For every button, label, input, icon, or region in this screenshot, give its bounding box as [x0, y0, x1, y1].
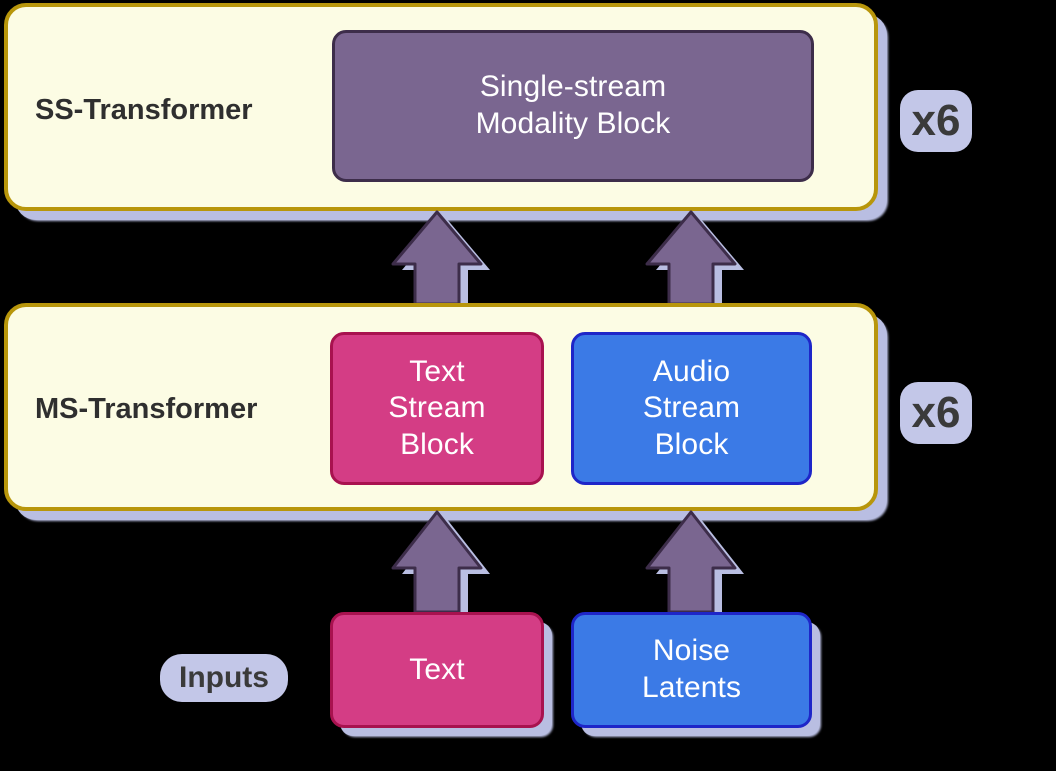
- ss-transformer-label: SS-Transformer: [35, 92, 253, 128]
- text-stream-block-line3: Block: [400, 427, 474, 464]
- text-input-block[interactable]: Text: [330, 612, 544, 728]
- inputs-label: Inputs: [160, 654, 288, 702]
- text-input-block-line1: Text: [409, 652, 464, 689]
- audio-stream-block-line2: Stream: [643, 390, 740, 427]
- arrow-text-input-to-ms: [384, 512, 490, 612]
- audio-stream-block[interactable]: Audio Stream Block: [571, 332, 812, 485]
- noise-latents-input-block-line1: Noise: [653, 633, 730, 670]
- text-stream-block-line1: Text: [409, 354, 464, 391]
- noise-latents-input-block-line2: Latents: [642, 670, 741, 707]
- text-stream-block-line2: Stream: [388, 390, 485, 427]
- single-stream-modality-block[interactable]: Single-stream Modality Block: [332, 30, 814, 182]
- diagram-canvas: SS-Transformer Single-stream Modality Bl…: [0, 0, 1056, 771]
- ms-transformer-label: MS-Transformer: [35, 391, 257, 427]
- single-stream-modality-block-line2: Modality Block: [476, 106, 671, 143]
- arrow-audio-stream-to-ss: [638, 212, 744, 304]
- ms-transformer-repeat-badge: x6: [900, 382, 972, 444]
- ss-transformer-repeat-badge: x6: [900, 90, 972, 152]
- text-stream-block[interactable]: Text Stream Block: [330, 332, 544, 485]
- audio-stream-block-line3: Block: [655, 427, 729, 464]
- arrow-noise-input-to-ms: [638, 512, 744, 612]
- noise-latents-input-block[interactable]: Noise Latents: [571, 612, 812, 728]
- arrow-text-stream-to-ss: [384, 212, 490, 304]
- audio-stream-block-line1: Audio: [653, 354, 730, 391]
- single-stream-modality-block-line1: Single-stream: [480, 69, 666, 106]
